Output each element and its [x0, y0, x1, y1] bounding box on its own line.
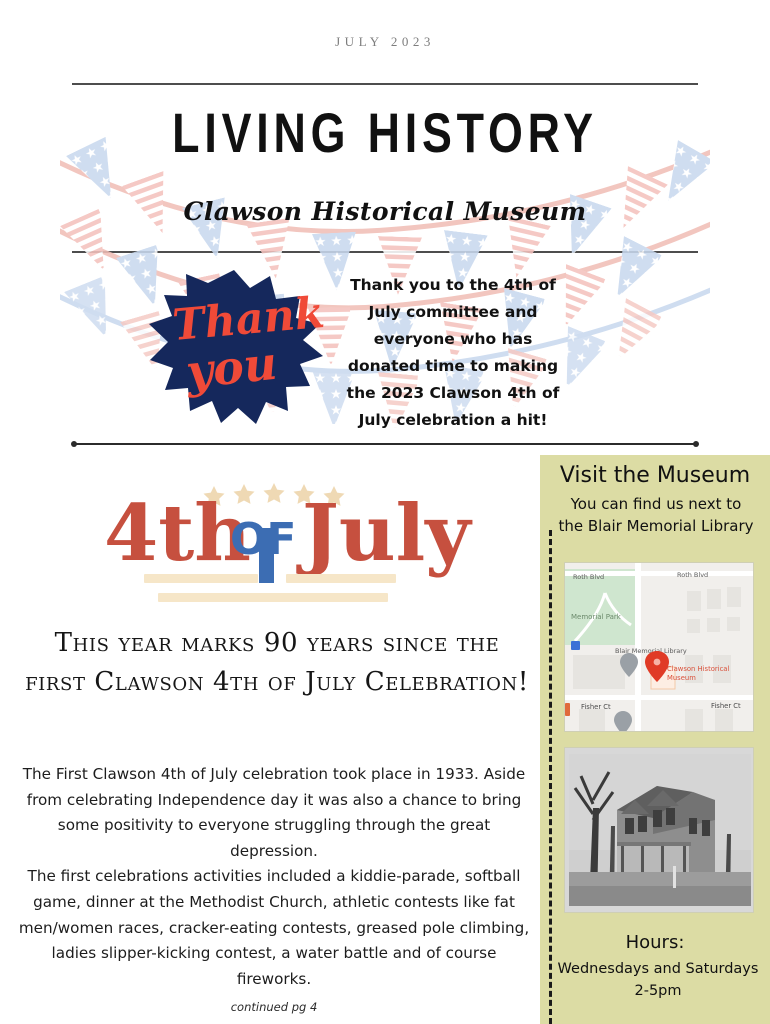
sidebar-subtitle: You can find us next to the Blair Memori…: [558, 493, 754, 537]
map-label-roth-left: Roth Blvd: [573, 573, 604, 581]
map-label-fisher-right: Fisher Ct: [711, 702, 741, 710]
map-label-museum-2: Museum: [667, 674, 696, 682]
article-paragraph-2: The first celebrations activities includ…: [12, 864, 536, 992]
map-label-roth-right: Roth Blvd: [677, 571, 708, 579]
map-marker-edge-icon: [565, 703, 570, 716]
museum-location-map[interactable]: Roth Blvd Roth Blvd Memorial Park Blair …: [564, 562, 754, 732]
fourth-of-july-graphic: 4th OF July: [96, 470, 476, 610]
thank-you-paragraph: Thank you to the 4th of July committee a…: [338, 272, 568, 434]
museum-photo: [564, 747, 754, 913]
sidebar-title: Visit the Museum: [540, 463, 770, 488]
hours-time: 2-5pm: [550, 980, 766, 1002]
issue-date: JULY 2023: [0, 34, 770, 50]
hours-title: Hours:: [540, 932, 770, 953]
divider-top: [72, 83, 698, 85]
visit-museum-sidebar: Visit the Museum You can find us next to…: [540, 455, 770, 1024]
article-headline: This year marks 90 years since the first…: [22, 624, 532, 702]
badge-you-text: you: [183, 336, 280, 399]
museum-photo-canvas: [565, 748, 754, 913]
page-title: LIVING HISTORY: [77, 104, 693, 162]
july-art-july: July: [296, 488, 473, 579]
map-label-museum-1: Clawson Historical: [667, 665, 729, 673]
hours-days: Wednesdays and Saturdays: [550, 958, 766, 980]
map-label-fisher-left: Fisher Ct: [581, 703, 611, 711]
thank-you-badge-icon: Thank you: [146, 268, 326, 426]
map-label-memorial-park: Memorial Park: [571, 613, 622, 621]
map-transit-icon: [571, 641, 580, 650]
july-art-4th: 4th: [104, 488, 251, 579]
article-paragraph-1: The First Clawson 4th of July celebratio…: [12, 762, 536, 864]
masthead-subtitle: Clawson Historical Museum: [0, 197, 770, 226]
continued-note: continued pg 4: [12, 1000, 536, 1014]
map-canvas: Roth Blvd Roth Blvd Memorial Park Blair …: [565, 563, 754, 732]
hours-details: Wednesdays and Saturdays 2-5pm: [550, 958, 766, 1002]
article-body: The First Clawson 4th of July celebratio…: [12, 762, 536, 992]
newsletter-page: JULY 2023: [0, 0, 770, 1024]
